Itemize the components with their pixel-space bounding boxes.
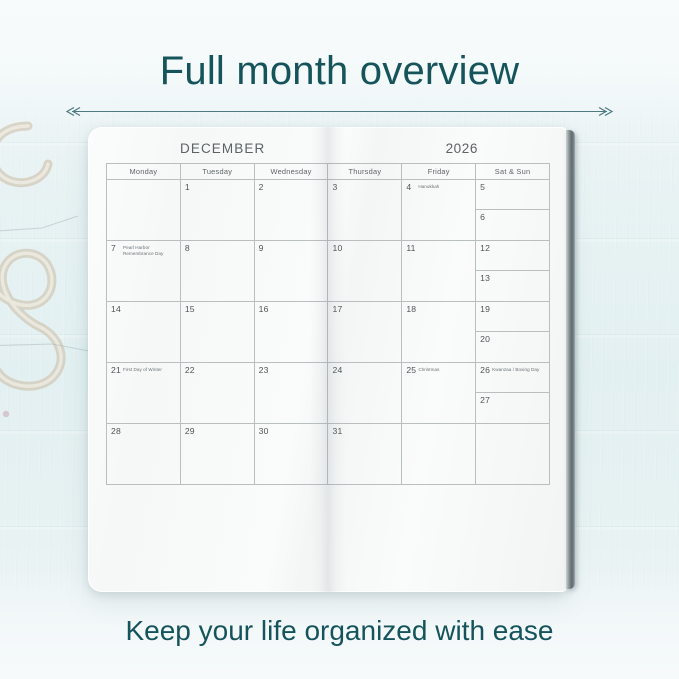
day-number: 12: [480, 243, 490, 253]
day-number: 11: [406, 243, 415, 253]
weekend-cell[interactable]: 19 20: [476, 302, 550, 363]
table-row: 28 29 30 31: [107, 424, 550, 485]
day-cell[interactable]: 30: [254, 424, 328, 485]
day-note: Hanukkah: [418, 184, 439, 190]
day-cell[interactable]: 20: [476, 332, 549, 361]
day-cell[interactable]: 19: [476, 302, 549, 332]
day-number: 7: [111, 243, 116, 253]
table-row: 14 15 16 17: [107, 302, 550, 363]
day-number: 3: [332, 182, 337, 192]
column-header-monday: Monday: [107, 164, 181, 180]
day-cell[interactable]: 12: [476, 241, 549, 271]
day-number: 4: [406, 182, 411, 192]
dried-flower-icon: [0, 409, 9, 424]
day-note: Christmas: [418, 367, 439, 373]
day-number: 5: [480, 182, 485, 192]
day-cell[interactable]: 2: [254, 180, 328, 241]
day-number: 18: [406, 304, 416, 314]
table-row: 1 2 3 4 Hanukkah: [107, 180, 550, 241]
day-number: 25: [406, 365, 416, 375]
day-cell[interactable]: 22: [180, 363, 254, 424]
day-cell[interactable]: 21 First Day of Winter: [107, 363, 181, 424]
double-headed-arrow-icon: [64, 106, 615, 117]
column-header-tuesday: Tuesday: [180, 164, 254, 180]
day-cell[interactable]: 14: [107, 302, 181, 363]
column-header-satsun: Sat & Sun: [476, 164, 550, 180]
day-cell[interactable]: 9: [254, 241, 328, 302]
day-number: 22: [185, 365, 195, 375]
day-cell[interactable]: 5: [476, 180, 549, 210]
day-number: 26: [480, 365, 490, 375]
day-cell[interactable]: 18: [402, 302, 476, 363]
day-cell[interactable]: 25 Christmas: [402, 363, 476, 424]
page-subtitle: Keep your life organized with ease: [0, 615, 679, 647]
day-number: 17: [332, 304, 342, 314]
day-cell[interactable]: 13: [476, 271, 549, 300]
day-note: Pearl Harbor Remembrance Day: [123, 245, 180, 257]
day-number: 23: [259, 365, 269, 375]
column-header-wednesday: Wednesday: [254, 164, 328, 180]
day-cell[interactable]: 23: [254, 363, 328, 424]
day-cell[interactable]: 17: [328, 302, 402, 363]
day-cell[interactable]: 4 Hanukkah: [402, 180, 476, 241]
promo-scene: Full month overview DECEMBER 2026 Monday…: [0, 0, 679, 679]
day-number: 2: [259, 182, 264, 192]
day-note: First Day of Winter: [123, 367, 162, 373]
day-cell[interactable]: 16: [254, 302, 328, 363]
day-cell[interactable]: 10: [328, 241, 402, 302]
weekend-cell[interactable]: 12 13: [476, 241, 550, 302]
day-number: 13: [480, 273, 490, 283]
day-cell[interactable]: 27: [476, 393, 549, 422]
day-cell[interactable]: [107, 180, 181, 241]
year-label: 2026: [446, 141, 478, 156]
day-number: 20: [480, 334, 490, 344]
column-header-friday: Friday: [402, 164, 476, 180]
weekend-cell[interactable]: 26 Kwanzaa / Boxing Day 27: [476, 363, 550, 424]
day-number: 30: [259, 426, 269, 436]
weekend-cell[interactable]: 5 6: [476, 180, 550, 241]
day-cell[interactable]: 15: [180, 302, 254, 363]
day-cell[interactable]: 11: [402, 241, 476, 302]
day-cell[interactable]: 1: [180, 180, 254, 241]
day-number: 14: [111, 304, 121, 314]
day-cell[interactable]: 26 Kwanzaa / Boxing Day: [476, 363, 549, 393]
day-cell[interactable]: 28: [107, 424, 181, 485]
planner-notebook[interactable]: DECEMBER 2026 Monday Tuesday Wednesday T…: [88, 127, 568, 592]
day-cell[interactable]: 24: [328, 363, 402, 424]
day-number: 16: [259, 304, 269, 314]
day-cell[interactable]: [402, 424, 476, 485]
day-number: 19: [480, 304, 490, 314]
day-cell[interactable]: 7 Pearl Harbor Remembrance Day: [107, 241, 181, 302]
day-note: Kwanzaa / Boxing Day: [492, 367, 539, 373]
month-grid-body: 1 2 3 4 Hanukkah: [107, 180, 550, 485]
day-number: 28: [111, 426, 121, 436]
day-number: 9: [259, 243, 264, 253]
day-of-week-header-row: Monday Tuesday Wednesday Thursday Friday…: [107, 164, 550, 180]
column-header-thursday: Thursday: [328, 164, 402, 180]
day-number: 8: [185, 243, 190, 253]
page-title: Full month overview: [0, 50, 679, 92]
divider-arrow: [64, 104, 615, 115]
day-number: 15: [185, 304, 195, 314]
table-row: 21 First Day of Winter 22 23 24: [107, 363, 550, 424]
day-number: 29: [185, 426, 195, 436]
day-cell[interactable]: 8: [180, 241, 254, 302]
day-number: 1: [185, 182, 190, 192]
notebook-spine-edge: [566, 130, 575, 589]
day-number: 31: [332, 426, 342, 436]
day-number: 6: [480, 212, 485, 222]
day-number: 24: [332, 365, 342, 375]
day-cell[interactable]: 6: [476, 210, 549, 239]
table-row: 7 Pearl Harbor Remembrance Day 8 9 10: [107, 241, 550, 302]
day-number: 10: [332, 243, 342, 253]
weekend-cell[interactable]: [476, 424, 550, 485]
day-number: 27: [480, 395, 490, 405]
day-number: 21: [111, 365, 121, 375]
day-cell[interactable]: 31: [328, 424, 402, 485]
month-label: DECEMBER: [180, 141, 265, 156]
page-headers: DECEMBER 2026: [106, 141, 550, 161]
day-cell[interactable]: 3: [328, 180, 402, 241]
day-cell[interactable]: 29: [180, 424, 254, 485]
month-grid[interactable]: Monday Tuesday Wednesday Thursday Friday…: [106, 163, 550, 485]
